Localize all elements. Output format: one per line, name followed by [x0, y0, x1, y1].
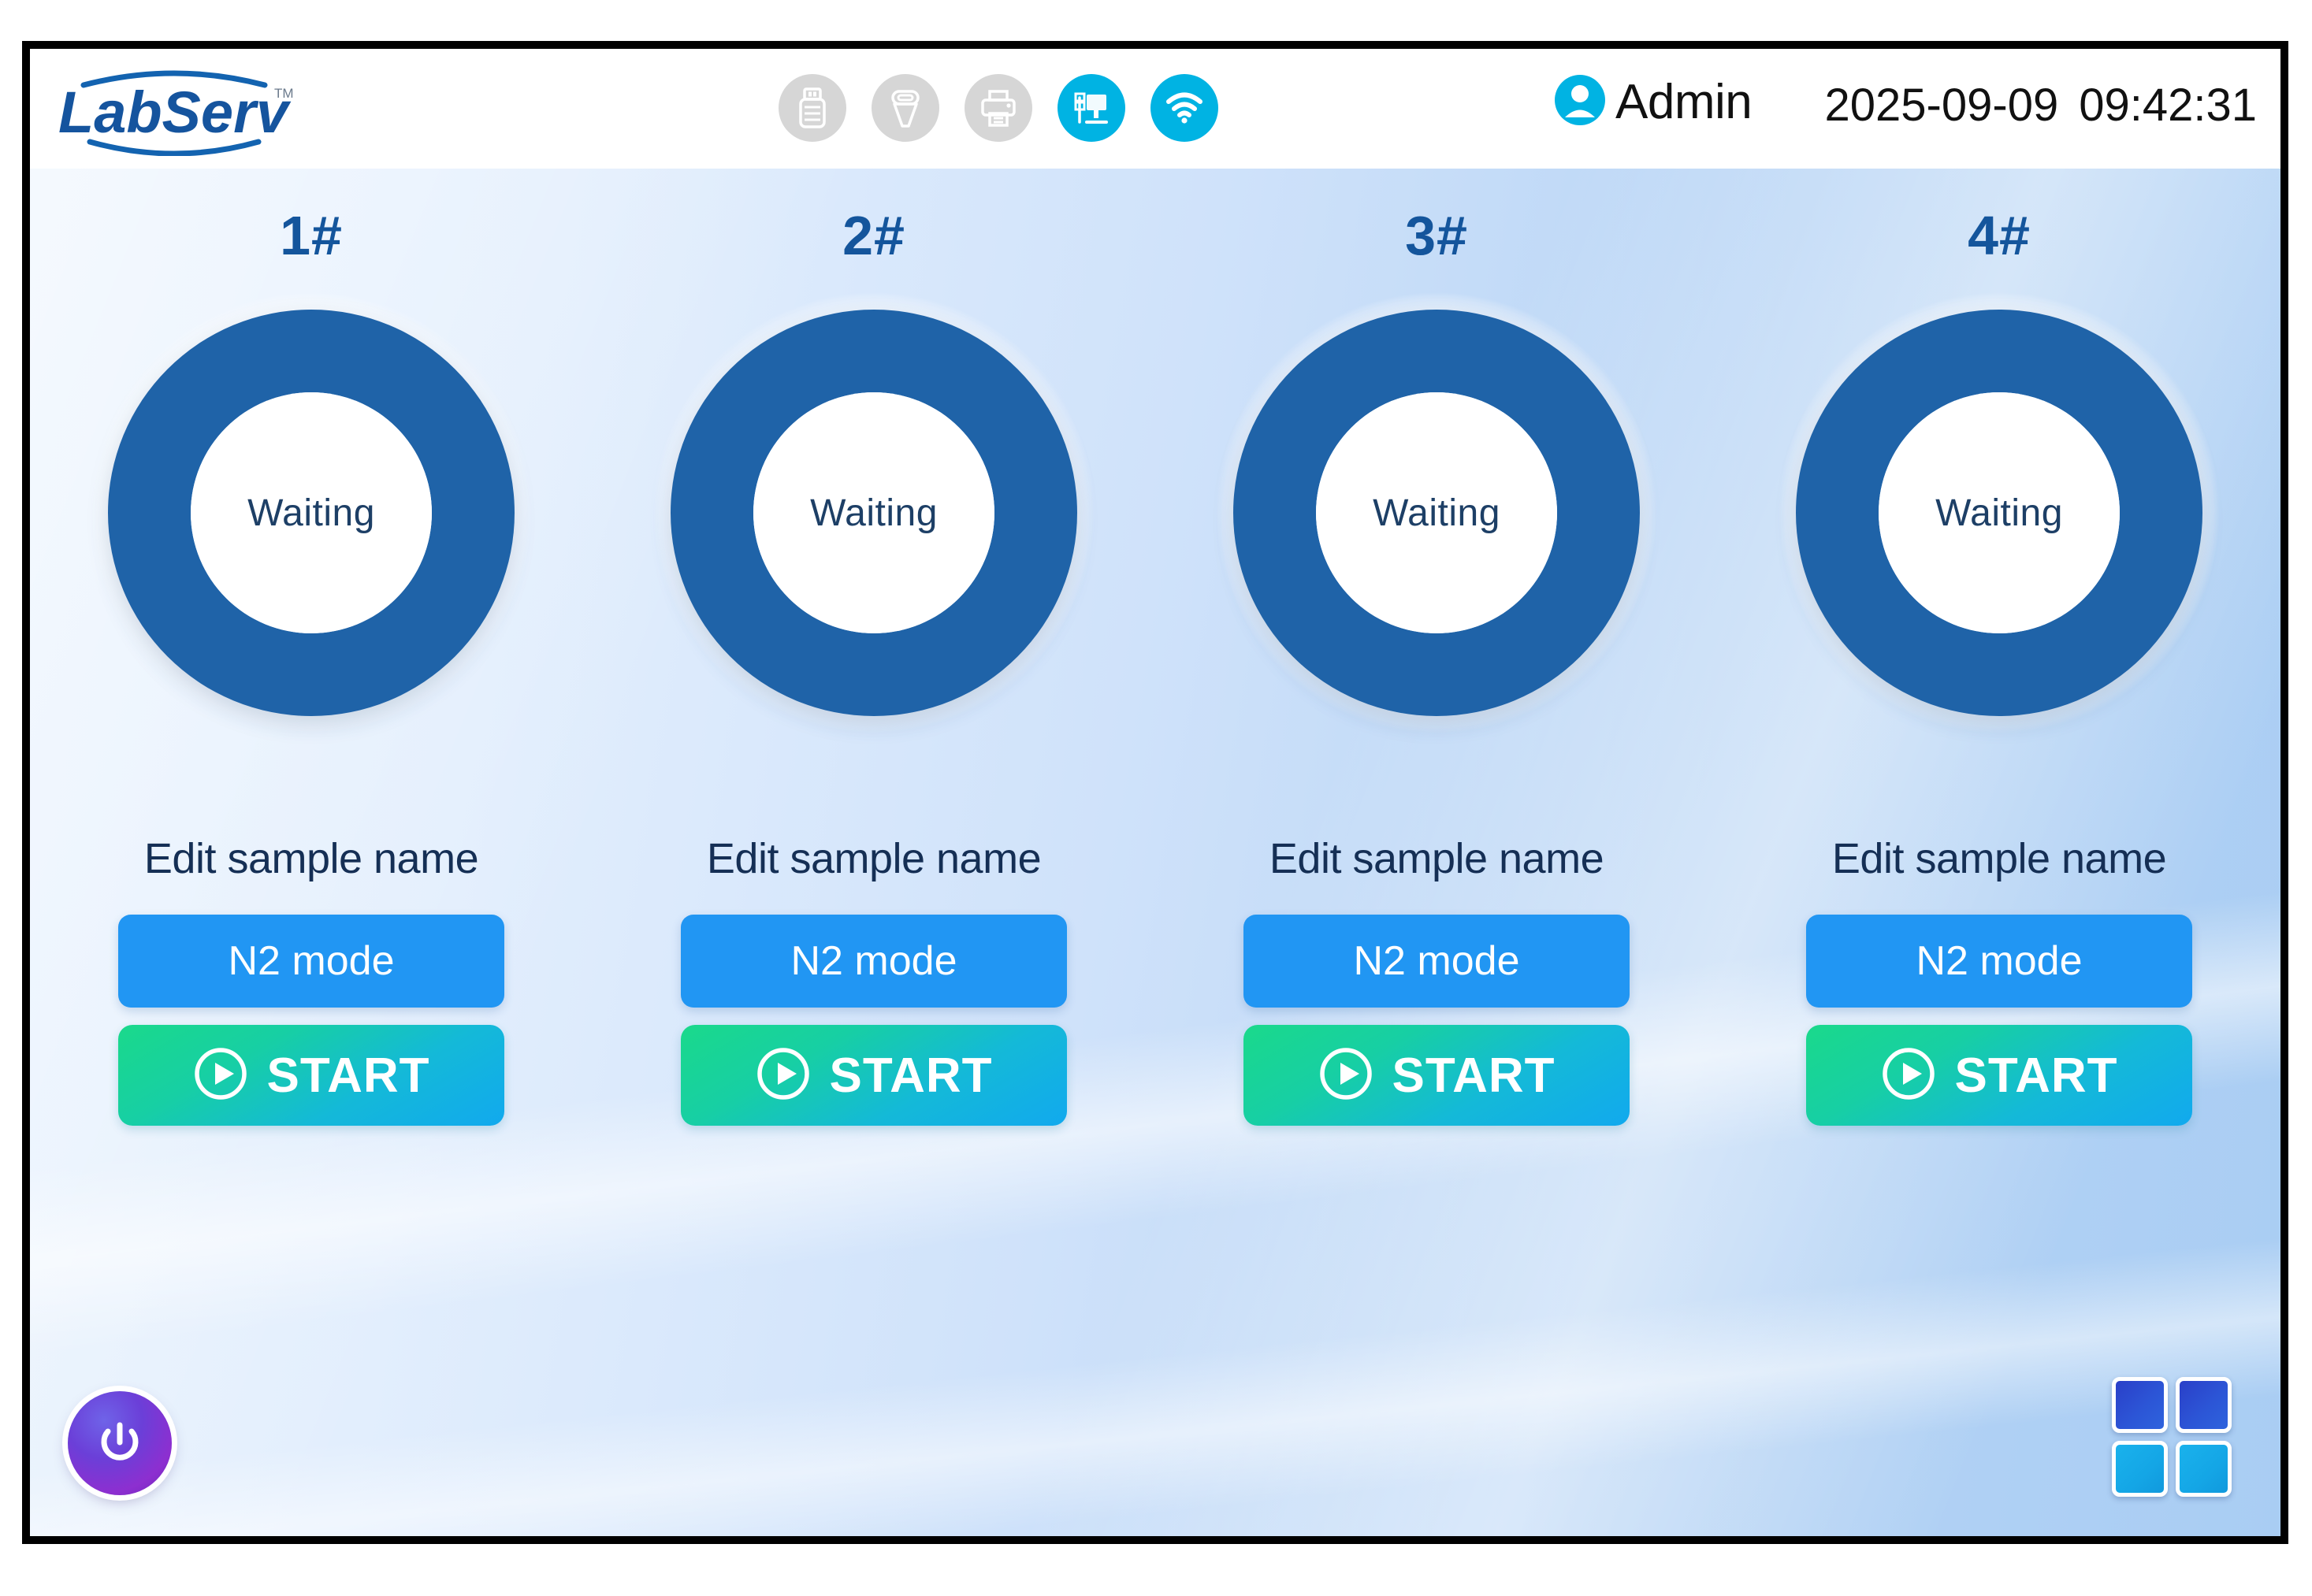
start-button-1[interactable]: START	[118, 1025, 504, 1126]
status-icon-group	[779, 74, 1218, 142]
play-icon	[192, 1045, 249, 1106]
progress-ring-3[interactable]: Waiting	[1216, 292, 1657, 733]
channel-panel-3: 3# Waiting Edit sample name N2 mode	[1155, 169, 1718, 1126]
labserv-logo: LabServ TM	[52, 63, 312, 156]
ring-center: Waiting	[191, 392, 432, 633]
status-badge: Waiting	[1935, 492, 2063, 535]
mode-button-4[interactable]: N2 mode	[1806, 915, 2192, 1008]
mode-button-1[interactable]: N2 mode	[118, 915, 504, 1008]
progress-ring-4[interactable]: Waiting	[1779, 292, 2220, 733]
start-label: START	[266, 1048, 429, 1104]
channel-panel-2: 2# Waiting Edit sample name N2 mode	[593, 169, 1155, 1126]
grid-cell-top-right	[2176, 1377, 2232, 1433]
datetime-display: 2025-09-0909:42:31	[1825, 79, 2257, 132]
progress-ring-1[interactable]: Waiting	[91, 292, 532, 733]
status-badge: Waiting	[247, 492, 375, 535]
ring-center: Waiting	[1316, 392, 1557, 633]
start-button-4[interactable]: START	[1806, 1025, 2192, 1126]
play-icon	[1880, 1045, 1937, 1106]
ring-track: Waiting	[108, 310, 515, 716]
user-name-label: Admin	[1615, 74, 1752, 130]
grid-cell-top-left	[2112, 1377, 2168, 1433]
start-label: START	[829, 1048, 992, 1104]
edit-sample-name-3[interactable]: Edit sample name	[1269, 834, 1604, 883]
channel-grid: 1# Waiting Edit sample name N2 mode	[30, 169, 2280, 1126]
printer-icon[interactable]	[965, 74, 1032, 142]
avatar	[1552, 72, 1608, 132]
usb-drive-icon[interactable]	[779, 74, 846, 142]
edit-sample-name-4[interactable]: Edit sample name	[1832, 834, 2166, 883]
start-button-2[interactable]: START	[681, 1025, 1067, 1126]
play-icon	[755, 1045, 812, 1106]
user-account[interactable]: Admin	[1552, 72, 1752, 132]
channel-title: 2#	[842, 204, 905, 267]
channel-panel-4: 4# Waiting Edit sample name N2 mode	[1718, 169, 2280, 1126]
grid-cell-bottom-right	[2176, 1441, 2232, 1497]
edit-sample-name-2[interactable]: Edit sample name	[707, 834, 1041, 883]
svg-text:TM: TM	[274, 86, 294, 101]
wifi-icon[interactable]	[1150, 74, 1218, 142]
play-icon	[1318, 1045, 1374, 1106]
channel-panel-1: 1# Waiting Edit sample name N2 mode	[30, 169, 593, 1126]
ring-track: Waiting	[1233, 310, 1640, 716]
probe-icon[interactable]	[872, 74, 939, 142]
date-label: 2025-09-09	[1825, 80, 2059, 131]
channel-title: 3#	[1405, 204, 1468, 267]
status-badge: Waiting	[810, 492, 938, 535]
progress-ring-2[interactable]: Waiting	[653, 292, 1095, 733]
channel-title: 4#	[1968, 204, 2031, 267]
grid-cell-bottom-left	[2112, 1441, 2168, 1497]
ring-center: Waiting	[753, 392, 994, 633]
ring-track: Waiting	[1796, 310, 2202, 716]
start-button-3[interactable]: START	[1243, 1025, 1630, 1126]
channel-title: 1#	[280, 204, 343, 267]
edit-sample-name-1[interactable]: Edit sample name	[144, 834, 478, 883]
status-badge: Waiting	[1373, 492, 1500, 535]
power-icon	[89, 1412, 151, 1474]
start-label: START	[1392, 1048, 1555, 1104]
start-label: START	[1954, 1048, 2117, 1104]
status-bar: LabServ TM	[30, 49, 2280, 169]
mode-button-2[interactable]: N2 mode	[681, 915, 1067, 1008]
device-screen-frame: LabServ TM	[22, 41, 2288, 1544]
power-button[interactable]	[68, 1391, 172, 1495]
main-panel: 1# Waiting Edit sample name N2 mode	[30, 169, 2280, 1536]
app-grid-button[interactable]	[2112, 1377, 2232, 1497]
mode-button-3[interactable]: N2 mode	[1243, 915, 1630, 1008]
ring-track: Waiting	[671, 310, 1077, 716]
ring-center: Waiting	[1879, 392, 2120, 633]
network-icon[interactable]	[1057, 74, 1125, 142]
svg-text:LabServ: LabServ	[58, 80, 292, 145]
time-label: 09:42:31	[2079, 80, 2257, 131]
